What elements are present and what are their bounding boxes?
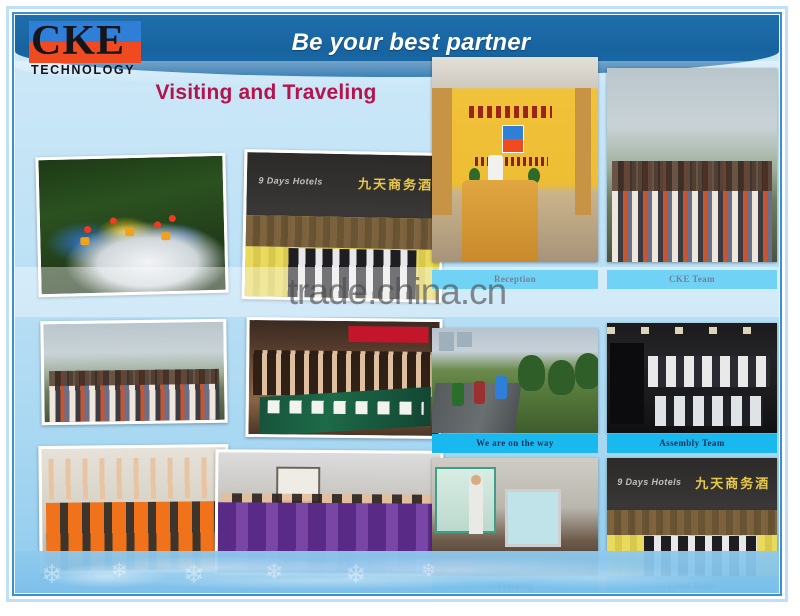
photo-hotel-group-top: 9 Days Hotels 九天商务酒	[242, 149, 445, 303]
reception-door-left	[432, 88, 452, 215]
reception-desk	[462, 180, 538, 262]
snowflake-icon: ❄	[41, 561, 63, 587]
scene-riverside	[43, 322, 224, 423]
good-team-sign-latin: 9 Days Hotels	[617, 477, 681, 487]
photo-on-the-way	[432, 328, 598, 433]
scene-assembly	[607, 323, 777, 433]
page-title: Visiting and Traveling	[111, 81, 421, 105]
banquet-papers	[268, 400, 424, 415]
scene-rafting	[38, 156, 225, 294]
photo-hotel-group-top-image: 9 Days Hotels 九天商务酒	[245, 152, 442, 300]
scene-banquet	[248, 320, 439, 436]
photo-banquet-meeting-image	[248, 320, 439, 436]
banquet-red-banner	[348, 326, 428, 343]
reception-company-line	[475, 157, 548, 165]
photo-rafting	[35, 153, 228, 298]
photo-rafting-image	[38, 156, 225, 294]
caption-cke-team: CKE Team	[607, 270, 777, 289]
snowflake-icon: ❄	[111, 561, 128, 581]
good-team-sign-chinese: 九天商务酒	[695, 473, 770, 492]
hotel-sign-latin: 9 Days Hotels	[258, 175, 322, 186]
snowflake-icon: ❄	[265, 561, 283, 583]
hotel-front-row	[287, 248, 416, 299]
photo-riverside-group	[40, 319, 227, 426]
photo-cke-team-image	[607, 68, 777, 262]
photo-reception	[432, 57, 598, 262]
reception-door-right	[575, 88, 592, 215]
assembly-equipment-rack	[610, 343, 644, 424]
bottom-decorative-band: ❄ ❄ ❄ ❄ ❄ ❄	[15, 551, 779, 593]
caption-assembly-team: Assembly Team	[607, 434, 777, 453]
company-logo: CKE TECHNOLOGY	[29, 21, 153, 87]
photo-banquet-meeting	[245, 317, 442, 439]
assembly-front-row	[655, 396, 764, 427]
photo-on-the-way-image	[432, 328, 598, 433]
riverside-crowd	[49, 369, 219, 422]
photo-assembly-team-image	[607, 323, 777, 433]
snowflake-icon: ❄	[183, 561, 205, 587]
hotel-sign-chinese: 九天商务酒	[358, 173, 433, 193]
poster-page: CKE TECHNOLOGY Be your best partner Visi…	[0, 0, 800, 616]
training-presenter-body	[469, 479, 484, 533]
caption-on-the-way: We are on the way	[432, 434, 598, 453]
assembly-back-row	[648, 356, 770, 387]
photo-cke-team	[607, 68, 777, 262]
reception-ceiling	[432, 57, 598, 88]
photo-reception-image	[432, 57, 598, 262]
logo-wordmark: CKE	[31, 17, 143, 65]
caption-reception: Reception	[432, 270, 598, 289]
reception-wall-sign	[469, 106, 552, 118]
snowflake-icon: ❄	[421, 561, 436, 579]
photo-riverside-group-image	[43, 322, 224, 423]
cke-team-crowd	[612, 161, 772, 262]
assembly-ceiling-lights	[607, 327, 777, 334]
company-slogan: Be your best partner	[201, 29, 621, 57]
logo-subtitle: TECHNOLOGY	[31, 63, 135, 77]
scene-hotel-group: 9 Days Hotels 九天商务酒	[245, 152, 442, 300]
training-presenter-head	[471, 475, 481, 486]
scene-cke-team	[607, 68, 777, 262]
training-projection-screen	[435, 467, 495, 532]
training-whiteboard	[505, 489, 561, 547]
cheer-raised-arms	[49, 457, 219, 500]
reception-emblem	[502, 125, 524, 154]
scene-cycling	[432, 328, 598, 433]
snowflake-icon: ❄	[345, 561, 367, 587]
scene-reception	[432, 57, 598, 262]
photo-assembly-team	[607, 323, 777, 433]
poster-canvas: CKE TECHNOLOGY Be your best partner Visi…	[15, 15, 779, 593]
